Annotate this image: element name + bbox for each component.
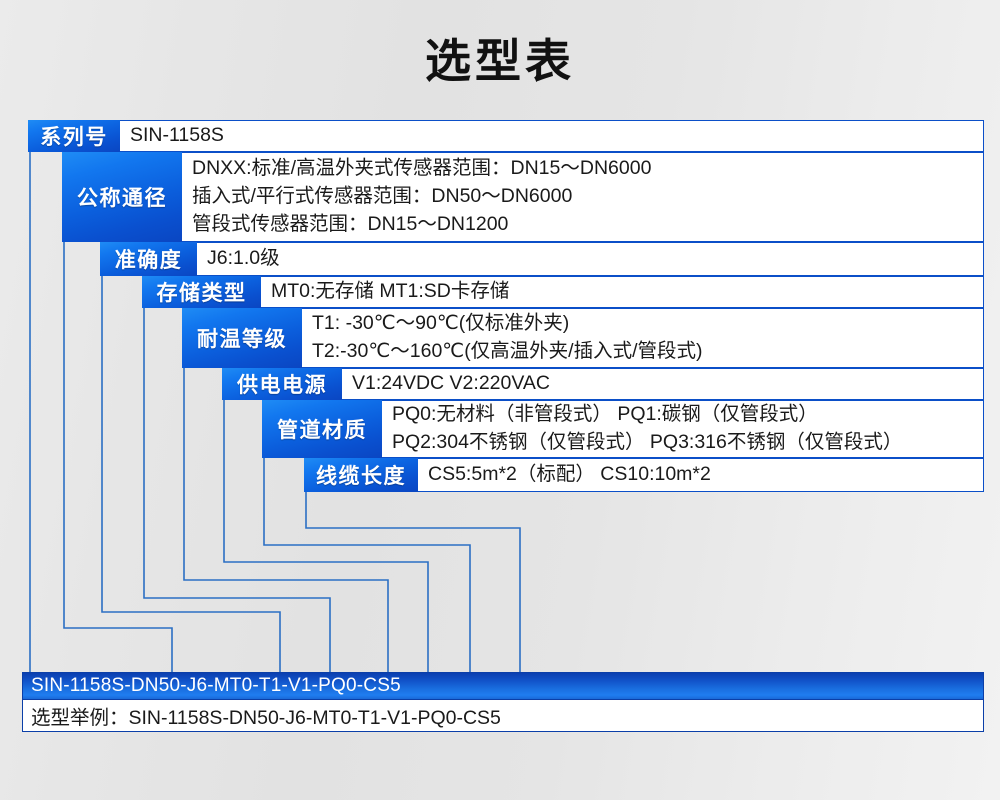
spec-row: 存储类型MT0:无存储 MT1:SD卡存储 (142, 276, 984, 308)
spec-row-value-line: T1: -30℃～90℃(仅标准外夹) (312, 310, 983, 338)
spec-row-label: 耐温等级 (182, 308, 302, 368)
selection-table-diagram: 选型表 系列号SIN-1158S公称通径DNXX:标准/高温外夹式传感器范围：D… (0, 0, 1000, 800)
spec-row-label: 供电电源 (222, 368, 342, 400)
spec-row-value-line: CS5:5m*2（标配） CS10:10m*2 (428, 461, 983, 489)
spec-row-value: SIN-1158S (120, 120, 984, 152)
spec-row-value-line: 管段式传感器范围：DN15～DN1200 (192, 211, 983, 239)
spec-row-label: 存储类型 (142, 276, 261, 308)
spec-row-value-line: J6:1.0级 (207, 245, 983, 273)
model-code-bar: SIN-1158S-DN50-J6-MT0-T1-V1-PQ0-CS5 (22, 672, 984, 700)
spec-row-value-line: DNXX:标准/高温外夹式传感器范围：DN15～DN6000 (192, 155, 983, 183)
spec-row-label: 准确度 (100, 242, 197, 276)
model-code-text: SIN-1158S-DN50-J6-MT0-T1-V1-PQ0-CS5 (31, 675, 401, 697)
spec-row: 系列号SIN-1158S (28, 120, 984, 152)
spec-row-value: DNXX:标准/高温外夹式传感器范围：DN15～DN6000插入式/平行式传感器… (182, 152, 984, 242)
spec-row-value: T1: -30℃～90℃(仅标准外夹)T2:-30℃～160℃(仅高温外夹/插入… (302, 308, 984, 368)
spec-row-label: 公称通径 (62, 152, 182, 242)
spec-row-value-line: MT0:无存储 MT1:SD卡存储 (271, 278, 983, 306)
page-title: 选型表 (0, 33, 1000, 89)
spec-row: 管道材质PQ0:无材料（非管段式） PQ1:碳钢（仅管段式）PQ2:304不锈钢… (262, 400, 984, 458)
spec-row-value-line: T2:-30℃～160℃(仅高温外夹/插入式/管段式) (312, 338, 983, 366)
spec-row-value: V1:24VDC V2:220VAC (342, 368, 984, 400)
spec-row-value-line: SIN-1158S (130, 122, 983, 150)
spec-row-value: J6:1.0级 (197, 242, 984, 276)
spec-row-value-line: PQ0:无材料（非管段式） PQ1:碳钢（仅管段式） (392, 401, 983, 429)
spec-row-label: 系列号 (28, 120, 120, 152)
spec-row-value: PQ0:无材料（非管段式） PQ1:碳钢（仅管段式）PQ2:304不锈钢（仅管段… (382, 400, 984, 458)
spec-row: 耐温等级T1: -30℃～90℃(仅标准外夹)T2:-30℃～160℃(仅高温外… (182, 308, 984, 368)
spec-row-value: CS5:5m*2（标配） CS10:10m*2 (418, 458, 984, 492)
spec-row-label: 线缆长度 (304, 458, 418, 492)
connector-line (306, 492, 520, 672)
spec-row-value-line: V1:24VDC V2:220VAC (352, 370, 983, 398)
spec-row: 供电电源V1:24VDC V2:220VAC (222, 368, 984, 400)
spec-row: 公称通径DNXX:标准/高温外夹式传感器范围：DN15～DN6000插入式/平行… (62, 152, 984, 242)
spec-row-value: MT0:无存储 MT1:SD卡存储 (261, 276, 984, 308)
selection-example-text: 选型举例：SIN-1158S-DN50-J6-MT0-T1-V1-PQ0-CS5 (31, 701, 501, 730)
spec-row-label: 管道材质 (262, 400, 382, 458)
spec-row: 线缆长度CS5:5m*2（标配） CS10:10m*2 (304, 458, 984, 492)
selection-example-bar: 选型举例：SIN-1158S-DN50-J6-MT0-T1-V1-PQ0-CS5 (22, 700, 984, 732)
spec-row-value-line: PQ2:304不锈钢（仅管段式） PQ3:316不锈钢（仅管段式） (392, 429, 983, 457)
spec-row: 准确度J6:1.0级 (100, 242, 984, 276)
spec-row-value-line: 插入式/平行式传感器范围：DN50～DN6000 (192, 183, 983, 211)
